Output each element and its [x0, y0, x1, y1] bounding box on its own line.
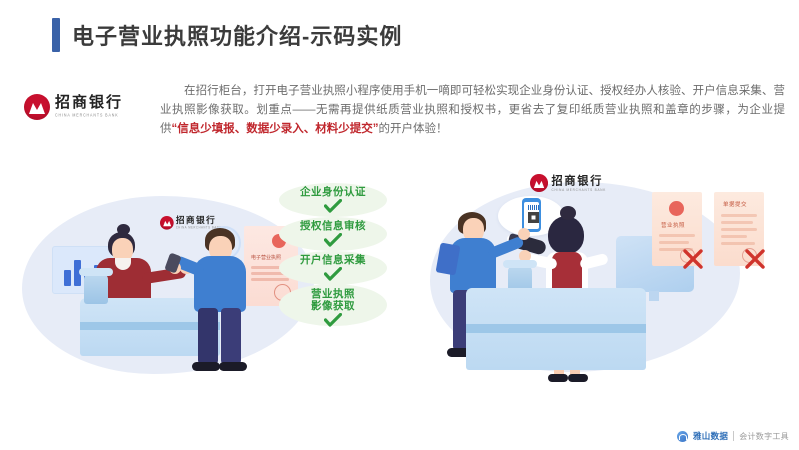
checklist-label-line1: 营业执照: [272, 288, 394, 300]
page-title: 电子营业执照功能介绍-示码实例: [52, 18, 402, 52]
footer-tagline: 会计数字工具: [739, 431, 789, 442]
barcode-icon: [528, 205, 540, 210]
document-label: 营业执照: [661, 221, 685, 229]
qr-code-icon: [528, 212, 539, 223]
checklist-label-line2: 影像获取: [272, 300, 394, 312]
paragraph-part-2: 的开户体验！: [379, 123, 448, 135]
cmb-wordmark: 招商银行 CHINA MERCHANTS BANK: [55, 96, 123, 118]
right-illustration: 招商银行 CHINA MERCHANTS BANK: [420, 160, 780, 400]
right-scene-name-en: CHINA MERCHANTS BANK: [552, 188, 607, 192]
rejected-documents: 营业执照 单据提交: [652, 192, 770, 272]
cmb-mark-icon: [24, 94, 50, 120]
process-checklist: 企业身份认证 授权信息审核 开户信息采集 营业执照 影像获取: [272, 186, 394, 334]
title-text: 电子营业执照功能介绍-示码实例: [72, 19, 402, 51]
check-icon: [324, 199, 342, 213]
checklist-item: 授权信息审核: [272, 220, 394, 247]
check-icon: [324, 233, 342, 247]
cmb-name-cn: 招商银行: [55, 96, 123, 111]
cross-icon: [682, 248, 704, 270]
body-paragraph: 在招行柜台，打开电子营业执照小程序使用手机一嘀即可轻松实现企业身份认证、授权经办…: [160, 82, 785, 139]
cmb-name-en: CHINA MERCHANTS BANK: [55, 114, 123, 119]
desk-phone-icon: [84, 274, 108, 304]
mountain-glyph-icon: [533, 178, 546, 188]
footer-divider: [733, 431, 734, 441]
bank-counter: [466, 288, 646, 370]
checklist-item: 开户信息采集: [272, 254, 394, 281]
paragraph-highlight: “信息少填报、数据少录入、材料少提交”: [172, 123, 379, 135]
right-scene-wordmark: 招商银行 CHINA MERCHANTS BANK: [552, 175, 607, 192]
footer-attribution: 雅山数据 会计数字工具: [677, 430, 789, 442]
check-icon: [324, 267, 342, 281]
cmb-mark-icon: [160, 216, 174, 230]
slide-root: 电子营业执照功能介绍-示码实例 招商银行 CHINA MERCHANTS BAN…: [0, 0, 799, 450]
cross-icon: [744, 248, 766, 270]
left-scene-bank-logo: 招商银行 CHINA MERCHANTS BANK: [160, 216, 222, 230]
check-icon: [324, 313, 342, 327]
checklist-item: 企业身份认证: [272, 186, 394, 213]
checklist-label: 企业身份认证: [272, 186, 394, 198]
checklist-label: 授权信息审核: [272, 220, 394, 232]
document-label: 单据提交: [723, 200, 747, 208]
right-scene-name-cn: 招商银行: [552, 175, 607, 186]
phone-screen: [524, 202, 539, 229]
cmb-logo: 招商银行 CHINA MERCHANTS BANK: [24, 94, 123, 120]
qr-phone-icon: [522, 198, 541, 232]
footer-brand: 雅山数据: [693, 430, 728, 442]
mountain-glyph-icon: [162, 219, 172, 227]
right-scene-bank-logo: 招商银行 CHINA MERCHANTS BANK: [530, 174, 606, 192]
globe-icon: [677, 431, 688, 442]
checklist-label: 开户信息采集: [272, 254, 394, 266]
cmb-mark-icon: [530, 174, 548, 192]
mountain-glyph-icon: [27, 99, 47, 115]
left-scene-name-cn: 招商银行: [176, 216, 222, 225]
document-stamp-icon: [669, 201, 684, 216]
title-accent-bar: [52, 18, 60, 52]
checklist-item: 营业执照 影像获取: [272, 288, 394, 327]
